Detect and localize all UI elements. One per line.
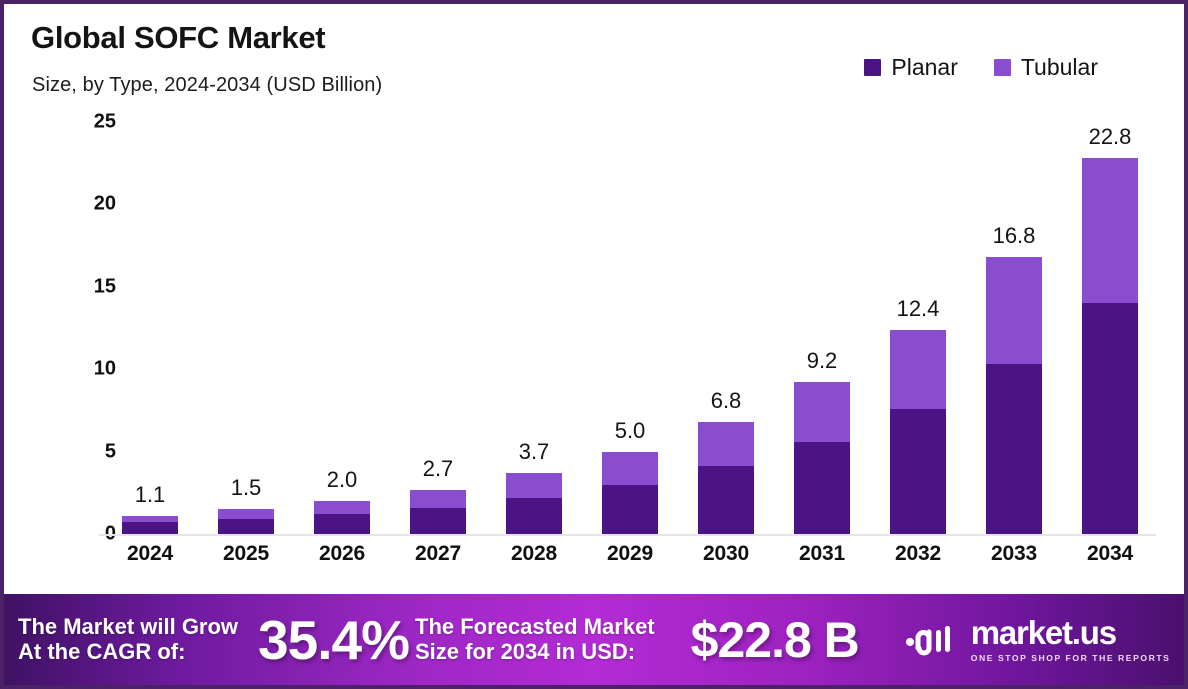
bar-group-2028[interactable] <box>506 473 562 534</box>
forecast-caption-line1: The Forecasted Market <box>415 615 655 640</box>
bar-segment-planar-2025[interactable] <box>218 519 274 534</box>
bar-segment-tubular-2033[interactable] <box>986 257 1042 364</box>
bar-value-label-2031: 9.2 <box>807 348 838 374</box>
x-axis-baseline <box>99 534 1156 536</box>
bar-segment-tubular-2025[interactable] <box>218 509 274 519</box>
legend-label-planar: Planar <box>891 54 957 81</box>
bar-segment-tubular-2027[interactable] <box>410 490 466 508</box>
bar-group-2029[interactable] <box>602 452 658 534</box>
bar-segment-tubular-2028[interactable] <box>506 473 562 498</box>
x-axis-label-2033: 2033 <box>986 542 1042 566</box>
legend-swatch-icon-tubular <box>994 59 1011 76</box>
cagr-caption-line2: At the CAGR of: <box>18 640 238 665</box>
bar-value-label-2032: 12.4 <box>897 296 940 322</box>
bar-value-label-2033: 16.8 <box>993 223 1036 249</box>
bar-group-2033[interactable] <box>986 257 1042 534</box>
bar-segment-planar-2029[interactable] <box>602 485 658 534</box>
bar-segment-planar-2031[interactable] <box>794 442 850 534</box>
cagr-block: The Market will Grow At the CAGR of: 35.… <box>4 608 409 672</box>
chart-legend: Planar Tubular <box>864 54 1098 81</box>
bar-segment-tubular-2032[interactable] <box>890 330 946 409</box>
page-title: Global SOFC Market <box>31 20 325 56</box>
bar-group-2031[interactable] <box>794 382 850 534</box>
cagr-value: 35.4% <box>258 608 409 672</box>
bar-value-label-2027: 2.7 <box>423 456 454 482</box>
bar-value-label-2024: 1.1 <box>135 482 166 508</box>
cagr-caption-line1: The Market will Grow <box>18 615 238 640</box>
bar-group-2024[interactable] <box>122 516 178 534</box>
forecast-block: The Forecasted Market Size for 2034 in U… <box>409 611 859 669</box>
bar-segment-planar-2028[interactable] <box>506 498 562 534</box>
bar-group-2034[interactable] <box>1082 158 1138 534</box>
bar-segment-planar-2024[interactable] <box>122 522 178 534</box>
forecast-caption-line2: Size for 2034 in USD: <box>415 640 655 665</box>
brand-logo[interactable]: market.us ONE STOP SHOP FOR THE REPORTS <box>905 616 1171 663</box>
legend-label-tubular: Tubular <box>1021 54 1098 81</box>
x-axis: 2024202520262027202820292030203120322033… <box>122 542 1164 582</box>
bar-group-2030[interactable] <box>698 422 754 534</box>
x-axis-label-2026: 2026 <box>314 542 370 566</box>
x-axis-label-2025: 2025 <box>218 542 274 566</box>
legend-swatch-icon-planar <box>864 59 881 76</box>
bar-segment-planar-2032[interactable] <box>890 409 946 534</box>
logo-text-column: market.us ONE STOP SHOP FOR THE REPORTS <box>971 616 1171 663</box>
bar-segment-planar-2033[interactable] <box>986 364 1042 534</box>
logo-tagline: ONE STOP SHOP FOR THE REPORTS <box>971 653 1171 663</box>
x-axis-label-2029: 2029 <box>602 542 658 566</box>
bar-value-label-2026: 2.0 <box>327 467 358 493</box>
bar-group-2025[interactable] <box>218 509 274 534</box>
bar-segment-tubular-2024[interactable] <box>122 516 178 523</box>
bar-group-2032[interactable] <box>890 330 946 534</box>
cagr-caption: The Market will Grow At the CAGR of: <box>18 615 238 664</box>
x-axis-label-2031: 2031 <box>794 542 850 566</box>
legend-item-planar[interactable]: Planar <box>864 54 957 81</box>
bar-value-label-2025: 1.5 <box>231 475 262 501</box>
market-us-logo-icon <box>905 620 959 660</box>
bottom-banner: The Market will Grow At the CAGR of: 35.… <box>4 594 1184 685</box>
y-axis: 0510152025 <box>74 122 122 534</box>
bar-segment-tubular-2030[interactable] <box>698 422 754 466</box>
bar-segment-tubular-2031[interactable] <box>794 382 850 441</box>
x-axis-label-2030: 2030 <box>698 542 754 566</box>
x-axis-label-2034: 2034 <box>1082 542 1138 566</box>
bar-segment-planar-2026[interactable] <box>314 514 370 534</box>
x-axis-label-2027: 2027 <box>410 542 466 566</box>
bar-segment-planar-2030[interactable] <box>698 466 754 534</box>
x-axis-label-2032: 2032 <box>890 542 946 566</box>
bar-segment-tubular-2026[interactable] <box>314 501 370 514</box>
bar-segment-tubular-2029[interactable] <box>602 452 658 485</box>
bar-value-label-2030: 6.8 <box>711 388 742 414</box>
bar-segment-planar-2027[interactable] <box>410 508 466 534</box>
chart-subtitle: Size, by Type, 2024-2034 (USD Billion) <box>32 74 382 97</box>
infographic-frame: Global SOFC Market Size, by Type, 2024-2… <box>0 0 1188 689</box>
y-axis-tick-20: 20 <box>94 193 116 216</box>
y-axis-tick-10: 10 <box>94 358 116 381</box>
bar-segment-planar-2034[interactable] <box>1082 303 1138 534</box>
bar-group-2026[interactable] <box>314 501 370 534</box>
bar-segment-tubular-2034[interactable] <box>1082 158 1138 303</box>
chart-plot-area: 0510152025 1.11.52.02.73.75.06.89.212.41… <box>74 122 1164 542</box>
forecast-value: $22.8 B <box>691 611 859 669</box>
x-axis-label-2028: 2028 <box>506 542 562 566</box>
y-axis-tick-15: 15 <box>94 275 116 298</box>
x-axis-label-2024: 2024 <box>122 542 178 566</box>
bar-value-label-2028: 3.7 <box>519 439 550 465</box>
logo-wordmark: market.us <box>971 616 1116 649</box>
bar-series-container: 1.11.52.02.73.75.06.89.212.416.822.8 <box>122 122 1164 534</box>
bar-value-label-2029: 5.0 <box>615 418 646 444</box>
bar-value-label-2034: 22.8 <box>1089 124 1132 150</box>
bar-group-2027[interactable] <box>410 490 466 534</box>
legend-item-tubular[interactable]: Tubular <box>994 54 1098 81</box>
y-axis-tick-5: 5 <box>105 440 116 463</box>
forecast-caption: The Forecasted Market Size for 2034 in U… <box>415 615 655 664</box>
y-axis-tick-25: 25 <box>94 111 116 134</box>
